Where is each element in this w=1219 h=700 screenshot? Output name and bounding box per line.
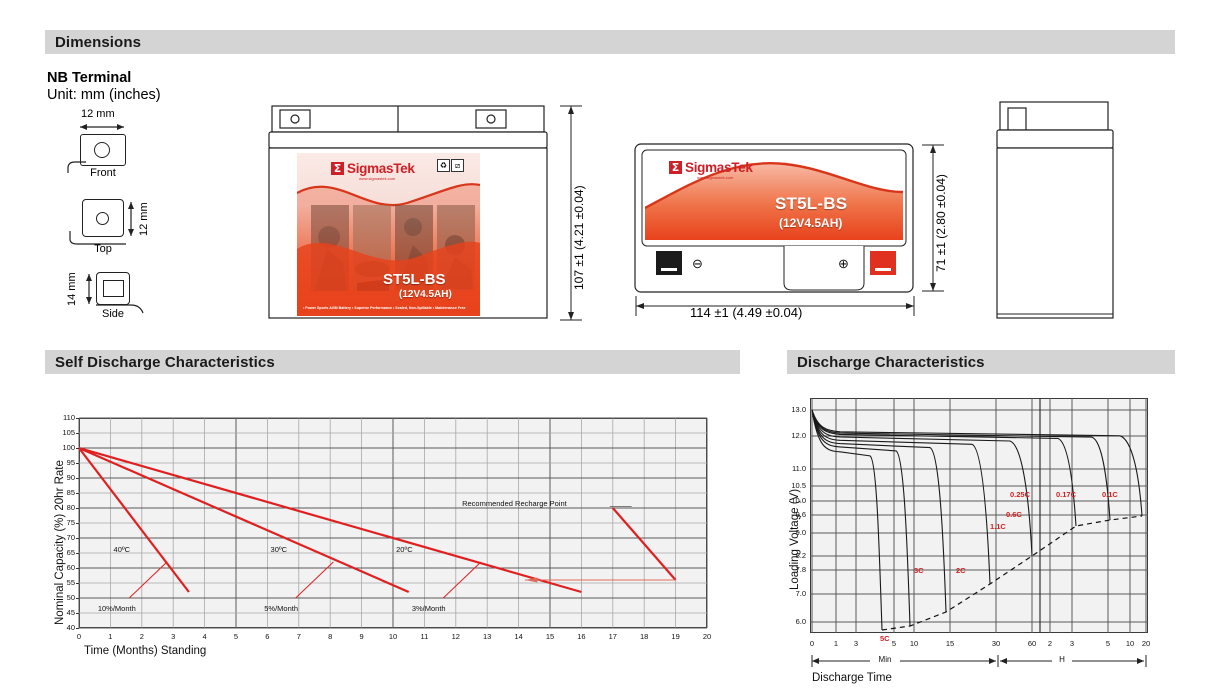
battery-tagline: • Power Sports AGM Battery • Superior Pe… (303, 306, 465, 310)
self-discharge-x-title: Time (Months) Standing (84, 645, 206, 657)
self-discharge-ytick-85: 85 (55, 488, 75, 497)
negative-terminal (656, 251, 682, 275)
self-discharge-xtick-9: 9 (354, 632, 370, 641)
self-discharge-ytickmark-40 (76, 628, 79, 629)
discharge-rate-5C: 5C (880, 634, 890, 643)
self-discharge-ytick-70: 70 (55, 533, 75, 542)
discharge-rate-2C: 2C (956, 566, 966, 575)
self-discharge-ytickmark-105 (76, 433, 79, 434)
discharge-xtick-30: 30 (988, 639, 1004, 648)
self-discharge-ytick-50: 50 (55, 593, 75, 602)
self-discharge-xtick-15: 15 (542, 632, 558, 641)
nb-terminal-title: NB Terminal (47, 70, 131, 86)
terminal-front-hole (94, 142, 110, 158)
discharge-rate-1.1C: 1.1C (990, 522, 1006, 531)
self-discharge-ytick-110: 110 (55, 413, 75, 422)
self-discharge-plot (79, 418, 707, 628)
self-discharge-ytick-55: 55 (55, 578, 75, 587)
self-discharge-ytick-45: 45 (55, 608, 75, 617)
self-discharge-ytickmark-85 (76, 493, 79, 494)
front-dim-arrow (78, 122, 128, 132)
section-title-dimensions: Dimensions (55, 34, 141, 51)
brand-url-front: www.sigmastek.com (359, 176, 395, 181)
self-discharge-ytickmark-110 (76, 418, 79, 419)
section-title-self-discharge: Self Discharge Characteristics (55, 354, 275, 371)
side-dim-arrow (84, 272, 94, 306)
discharge-range-bars (810, 655, 1148, 669)
discharge-rate-0.25C: 0.25C (1010, 490, 1030, 499)
discharge-ytick-10.5: 10.5 (780, 481, 806, 490)
discharge-ytick-6.0: 6.0 (780, 617, 806, 626)
self-discharge-xtick-8: 8 (322, 632, 338, 641)
discharge-xtick-10: 10 (1122, 639, 1138, 648)
terminal-side-label: Side (90, 308, 136, 320)
self-discharge-xtick-17: 17 (605, 632, 621, 641)
discharge-rate-0.17C: 0.17C (1056, 490, 1076, 499)
self-discharge-ytickmark-95 (76, 463, 79, 464)
sigma-logo-icon: Σ (331, 162, 344, 175)
self-discharge-xtick-1: 1 (102, 632, 118, 641)
self-discharge-ytick-65: 65 (55, 548, 75, 557)
positive-polarity-icon: ⊕ (838, 256, 849, 272)
self-discharge-ytickmark-55 (76, 583, 79, 584)
discharge-rate-0.1C: 0.1C (1102, 490, 1118, 499)
self-discharge-anno-0: 40ºC (114, 545, 131, 554)
unit-label: Unit: mm (inches) (47, 87, 161, 103)
discharge-range-hour-label: H (1052, 655, 1072, 664)
self-discharge-xtick-6: 6 (259, 632, 275, 641)
discharge-xtick-2: 2 (1042, 639, 1058, 648)
self-discharge-xtick-12: 12 (448, 632, 464, 641)
section-title-discharge: Discharge Characteristics (797, 354, 985, 371)
self-discharge-xtick-16: 16 (573, 632, 589, 641)
model-name-front: ST5L-BS (383, 271, 446, 288)
discharge-ytick-13.0: 13.0 (780, 405, 806, 414)
discharge-xtick-0: 0 (804, 639, 820, 648)
self-discharge-xtick-14: 14 (511, 632, 527, 641)
self-discharge-ytickmark-90 (76, 478, 79, 479)
self-discharge-ytick-60: 60 (55, 563, 75, 572)
self-discharge-ytickmark-65 (76, 553, 79, 554)
discharge-ytick-9.0: 9.0 (780, 528, 806, 537)
discharge-xtick-1: 1 (828, 639, 844, 648)
front-width-dim: 12 mm (81, 108, 115, 120)
self-discharge-anno-3: 10%/Month (98, 604, 136, 613)
self-discharge-xtick-10: 10 (385, 632, 401, 641)
front-height-dim-text: 107 ±1 (4.21 ±0.04) (572, 185, 586, 290)
self-discharge-xtick-4: 4 (197, 632, 213, 641)
discharge-ytick-11.0: 11.0 (780, 464, 806, 473)
self-discharge-ytickmark-45 (76, 613, 79, 614)
discharge-xtick-5: 5 (1100, 639, 1116, 648)
self-discharge-ytickmark-70 (76, 538, 79, 539)
self-discharge-ytick-100: 100 (55, 443, 75, 452)
self-discharge-ytickmark-100 (76, 448, 79, 449)
discharge-xtick-3: 3 (1064, 639, 1080, 648)
self-discharge-xtick-11: 11 (416, 632, 432, 641)
model-name-top: ST5L-BS (775, 194, 847, 214)
discharge-ytick-7.8: 7.8 (780, 565, 806, 574)
discharge-xtick-10: 10 (906, 639, 922, 648)
self-discharge-xtick-13: 13 (479, 632, 495, 641)
self-discharge-ytick-75: 75 (55, 518, 75, 527)
discharge-xtick-60: 60 (1024, 639, 1040, 648)
battery-top-label: Σ SigmasTek www.sigmastek.com ST5L-BS (1… (645, 152, 903, 240)
discharge-ytick-7.0: 7.0 (780, 589, 806, 598)
negative-polarity-icon: ⊖ (692, 256, 703, 272)
model-capacity-top: (12V4.5AH) (779, 216, 842, 230)
self-discharge-xtick-18: 18 (636, 632, 652, 641)
discharge-ytick-8.2: 8.2 (780, 551, 806, 560)
positive-terminal-stripe (875, 268, 891, 271)
terminal-top-label: Top (80, 243, 126, 255)
self-discharge-anno-1: 30ºC (271, 545, 288, 554)
section-header-self-discharge: Self Discharge Characteristics (45, 350, 740, 374)
side-height-dim: 14 mm (66, 272, 78, 306)
recycle-icon: ♻ (437, 159, 450, 172)
discharge-rate-3C: 3C (914, 566, 924, 575)
self-discharge-ytick-80: 80 (55, 503, 75, 512)
self-discharge-xtick-2: 2 (134, 632, 150, 641)
sigma-logo-icon-top: Σ (669, 161, 682, 174)
self-discharge-xtick-7: 7 (291, 632, 307, 641)
discharge-xtick-15: 15 (942, 639, 958, 648)
top-height-dim: 12 mm (138, 202, 150, 236)
self-discharge-xtick-20: 20 (699, 632, 715, 641)
self-discharge-xtick-5: 5 (228, 632, 244, 641)
model-capacity-front: (12V4.5AH) (399, 289, 452, 300)
brand-name-front: SigmasTek (347, 161, 415, 176)
discharge-ytick-9.6: 9.6 (780, 510, 806, 519)
self-discharge-xtick-0: 0 (71, 632, 87, 641)
positive-terminal (870, 251, 896, 275)
brand-name-top: SigmasTek (685, 160, 753, 175)
self-discharge-anno-5: 3%/Month (412, 604, 446, 613)
terminal-front-label: Front (80, 167, 126, 179)
discharge-xtick-20: 20 (1138, 639, 1154, 648)
negative-terminal-stripe (661, 268, 677, 271)
terminal-top-hole (96, 212, 109, 225)
section-header-discharge: Discharge Characteristics (787, 350, 1175, 374)
top-width-dim-text: 114 ±1 (4.49 ±0.04) (690, 305, 802, 320)
discharge-rate-0.6C: 0.6C (1006, 510, 1022, 519)
discharge-x-title: Discharge Time (812, 672, 892, 684)
self-discharge-ytickmark-50 (76, 598, 79, 599)
terminal-side-inner (103, 280, 124, 297)
brand-lockup-front: Σ SigmasTek (331, 161, 415, 176)
discharge-range-min-label: Min (870, 655, 900, 664)
self-discharge-xtick-3: 3 (165, 632, 181, 641)
discharge-ytick-10.0: 10.0 (780, 496, 806, 505)
no-bin-icon: ⧄ (451, 159, 464, 172)
section-header-dimensions: Dimensions (45, 30, 1175, 54)
battery-front-label: Σ SigmasTek www.sigmastek.com ♻ ⧄ ST5L-B… (297, 153, 480, 316)
battery-side-drawing (996, 100, 1126, 322)
self-discharge-ytick-95: 95 (55, 458, 75, 467)
brand-lockup-top: Σ SigmasTek (669, 160, 753, 175)
brand-url-top: www.sigmastek.com (697, 175, 733, 180)
self-discharge-anno-4: 5%/Month (264, 604, 298, 613)
self-discharge-ytickmark-75 (76, 523, 79, 524)
discharge-ytick-12.0: 12.0 (780, 431, 806, 440)
self-discharge-anno-6: Recommended Recharge Point (462, 499, 567, 508)
discharge-xtick-3: 3 (848, 639, 864, 648)
discharge-plot (810, 398, 1148, 633)
self-discharge-ytickmark-60 (76, 568, 79, 569)
top-depth-dim-text: 71 ±1 (2.80 ±0.04) (934, 174, 948, 272)
self-discharge-ytickmark-80 (76, 508, 79, 509)
self-discharge-ytick-40: 40 (55, 623, 75, 632)
self-discharge-xtick-19: 19 (668, 632, 684, 641)
self-discharge-ytick-105: 105 (55, 428, 75, 437)
self-discharge-anno-2: 20ºC (396, 545, 413, 554)
self-discharge-ytick-90: 90 (55, 473, 75, 482)
